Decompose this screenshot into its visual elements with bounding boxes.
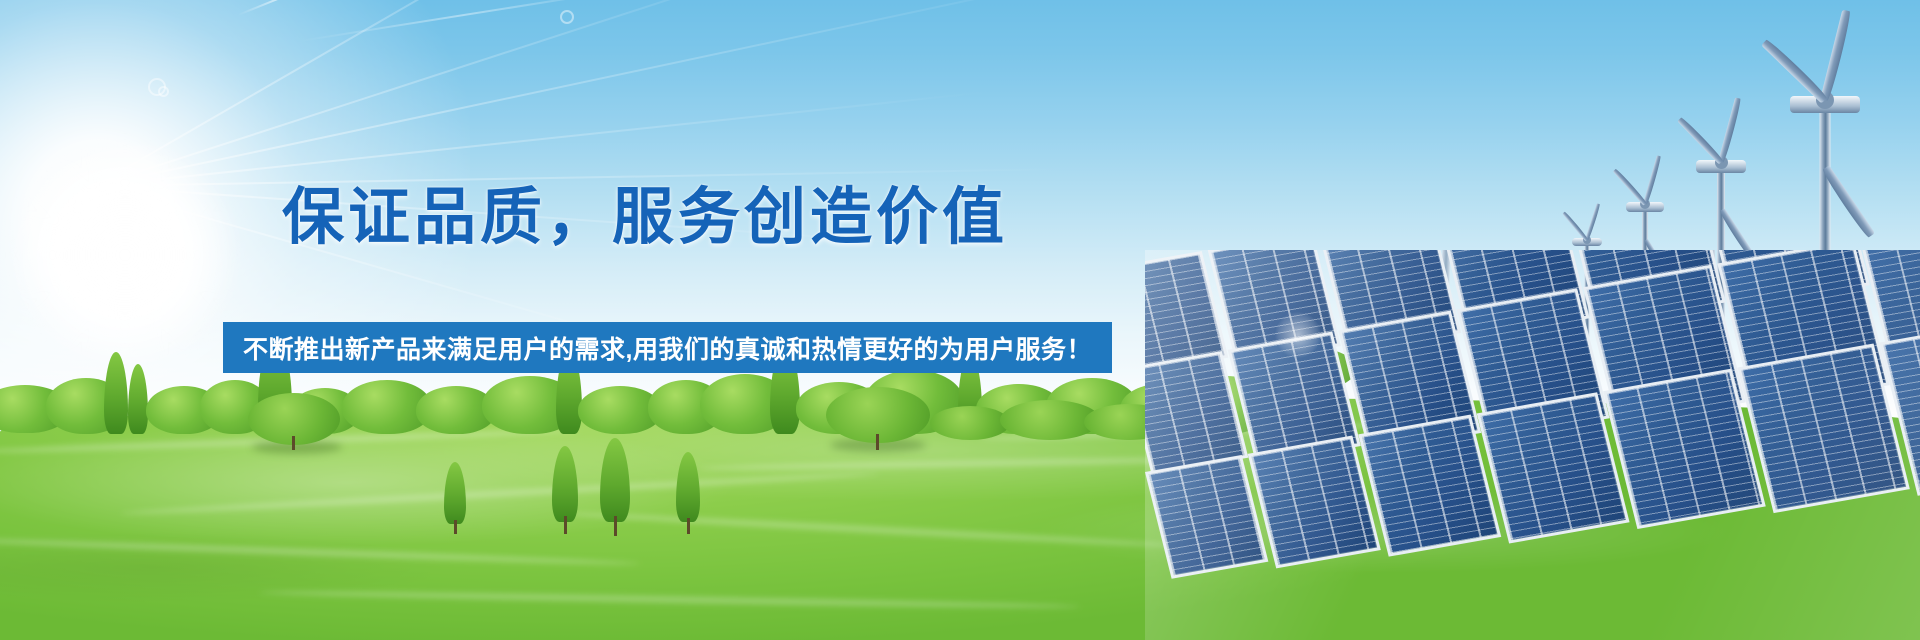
panel-glare-icon xyxy=(1275,312,1321,358)
tree-trunk xyxy=(292,436,295,450)
lawn-bush-icon xyxy=(930,406,1010,440)
tree-trunk xyxy=(614,516,617,536)
solar-panel xyxy=(1603,369,1766,529)
solar-panel xyxy=(1358,415,1501,557)
lens-flare-ring-icon xyxy=(560,10,574,24)
subtitle-banner: 不断推出新产品来满足用户的需求,用我们的真诚和热情更好的为用户服务！ xyxy=(223,322,1112,373)
tree-trunk xyxy=(876,434,879,450)
lens-flare-ring-icon xyxy=(158,86,169,97)
solar-panel xyxy=(1248,435,1381,568)
hero-banner: 保证品质，服务创造价值 不断推出新产品来满足用户的需求,用我们的真诚和热情更好的… xyxy=(0,0,1920,640)
tree-trunk xyxy=(564,516,567,534)
page-title: 保证品质，服务创造价值 xyxy=(0,166,1290,256)
tree-trunk xyxy=(454,520,457,534)
solar-panel xyxy=(1737,344,1910,514)
solar-panel xyxy=(1477,392,1630,543)
solar-panel-array xyxy=(1145,250,1920,640)
solar-panel xyxy=(1145,455,1268,579)
tree-trunk xyxy=(687,518,690,534)
